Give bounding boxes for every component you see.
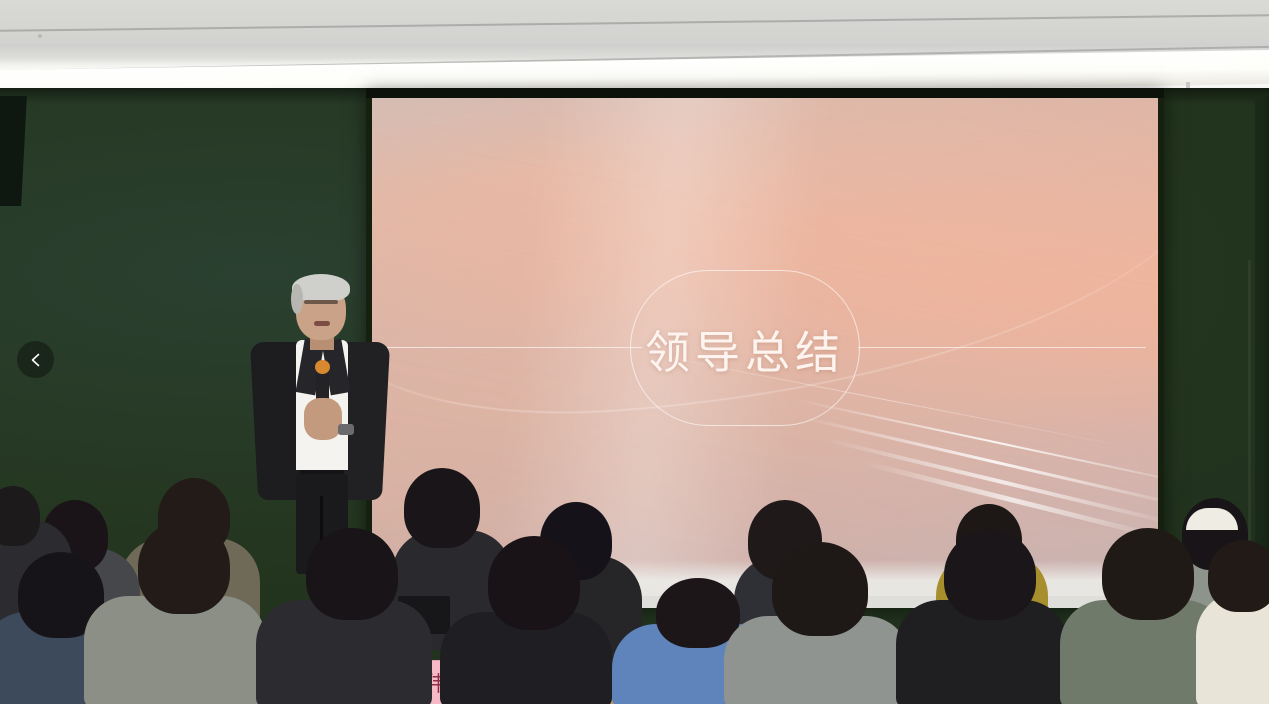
ceiling	[0, 0, 1269, 96]
back-attendee-head	[404, 468, 480, 548]
attendee-head	[488, 536, 580, 630]
attendee-head	[1208, 540, 1269, 612]
slide-title: 领导总结	[645, 316, 845, 381]
presenter-hair-side	[291, 284, 303, 314]
presenter-mouth	[314, 321, 330, 326]
presenter-watch	[338, 424, 354, 435]
photo-viewer: 领导总结	[0, 0, 1269, 704]
chevron-left-icon	[28, 352, 44, 368]
attendee-head	[944, 530, 1036, 620]
presenter	[252, 274, 388, 574]
slide-title-pill: 领导总结	[630, 270, 860, 426]
attendee-head	[138, 520, 230, 614]
presenter-hands	[304, 398, 342, 440]
attendee-head	[656, 578, 740, 648]
microphone-head-icon	[315, 360, 330, 374]
ceiling-fixture-dot	[38, 34, 42, 38]
presenter-brow	[304, 300, 338, 304]
ceiling-seam	[0, 14, 1269, 32]
previous-photo-button[interactable]	[17, 341, 54, 378]
wall-seam	[1248, 260, 1251, 560]
attendee-head	[306, 528, 398, 620]
attendee-head	[1102, 528, 1194, 620]
slide-rule-right	[858, 347, 1146, 348]
slide-rule-left	[380, 347, 642, 348]
projection-screen-top-bar	[366, 88, 1164, 98]
attendee-head	[772, 542, 868, 636]
